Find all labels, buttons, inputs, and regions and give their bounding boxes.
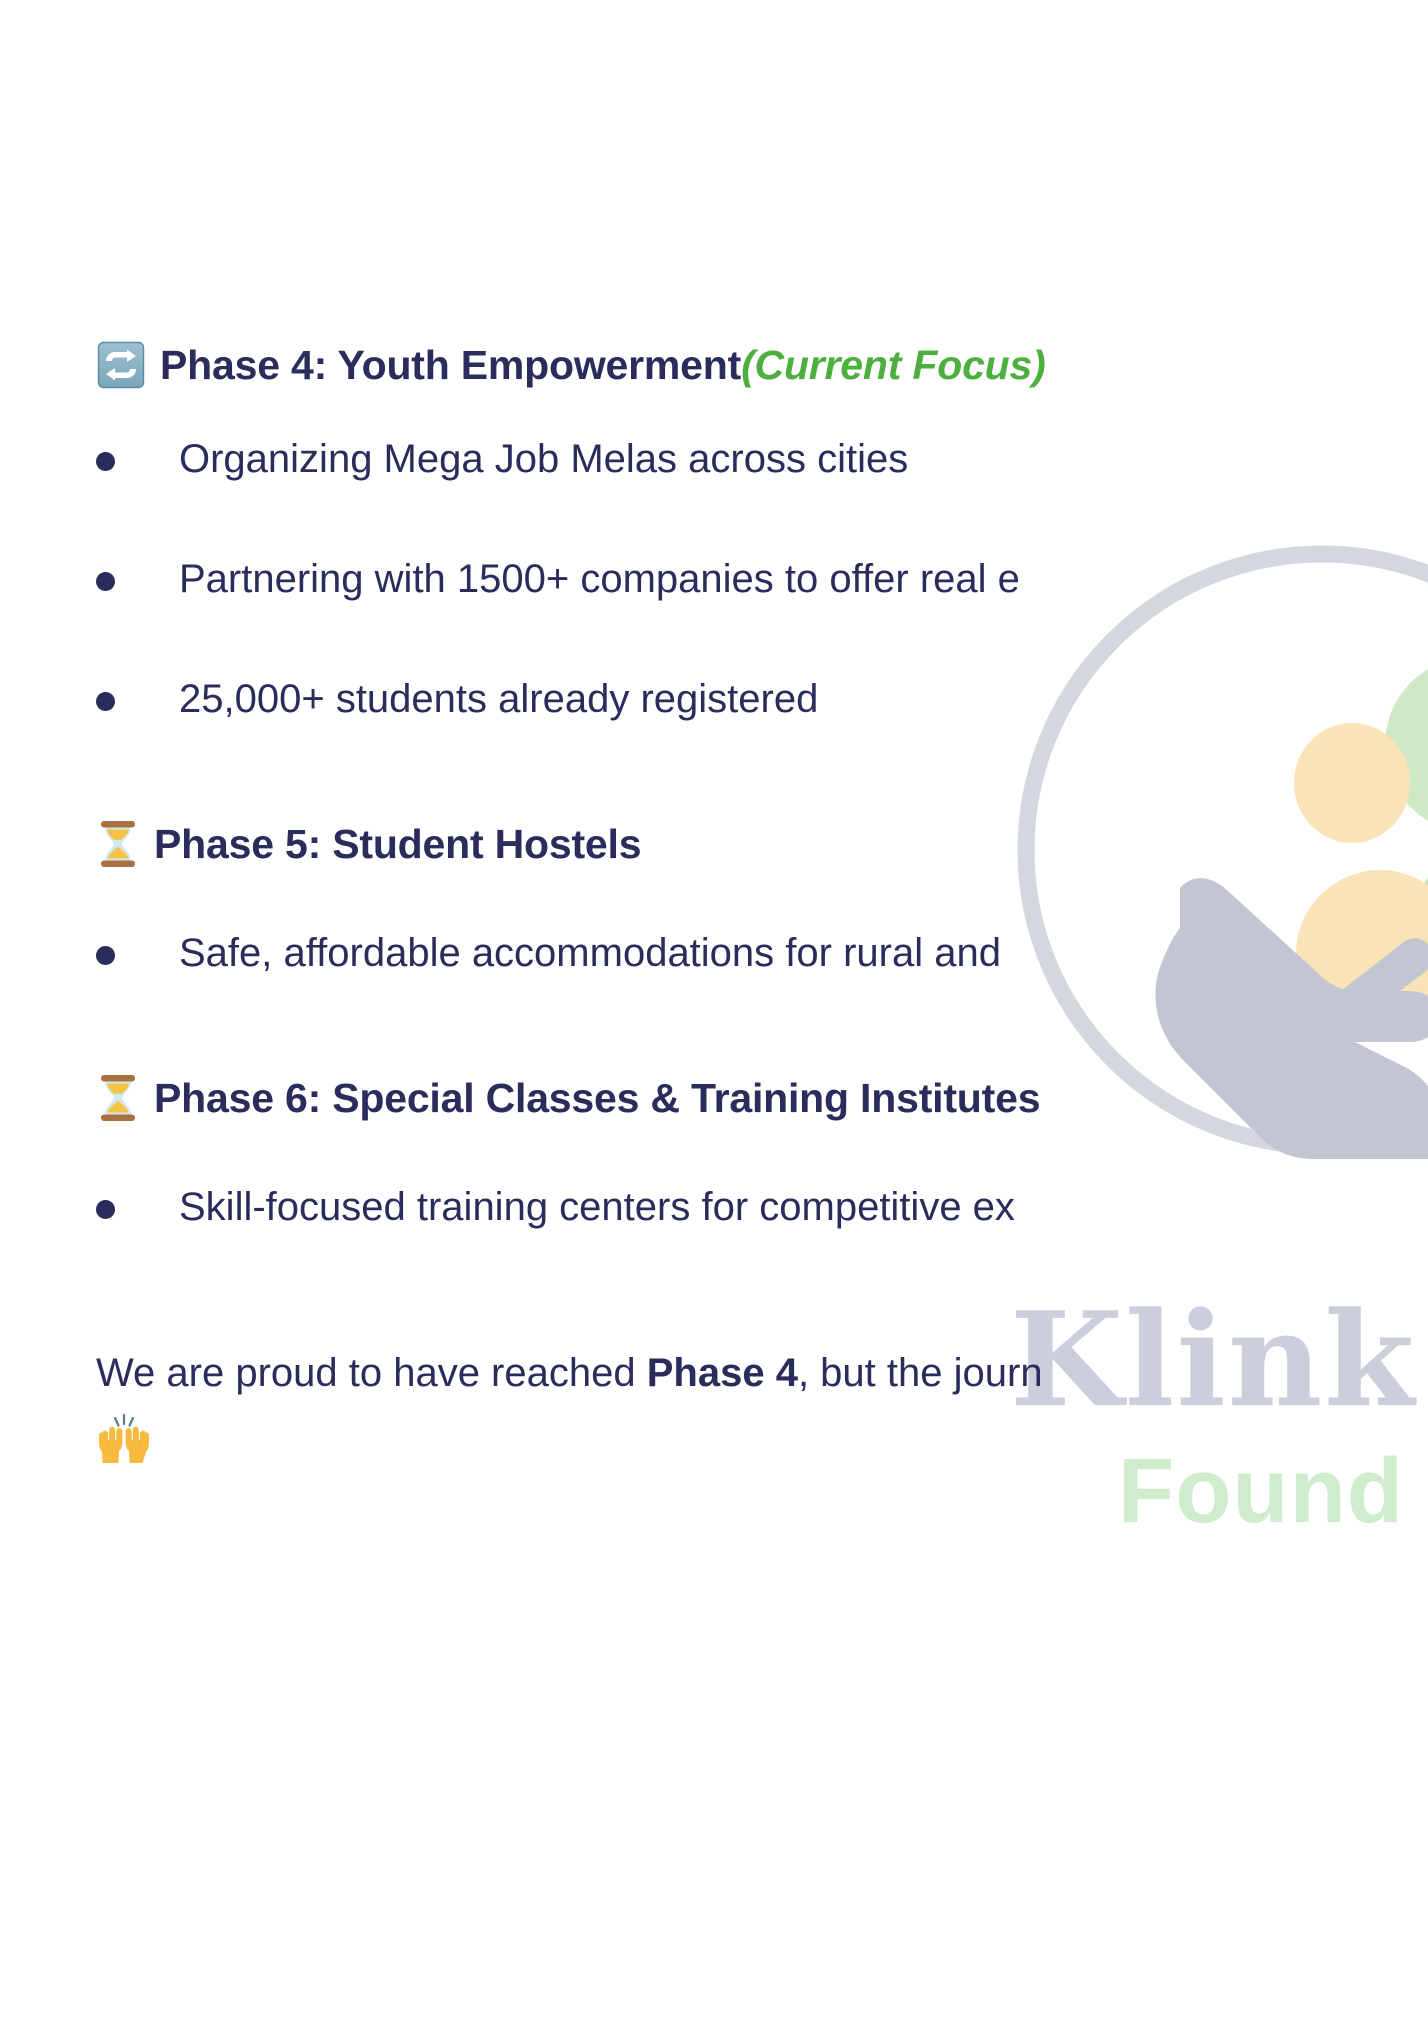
list-item: Skill-focused training centers for compe… <box>96 1183 1428 1231</box>
list-item-label: Skill-focused training centers for compe… <box>179 1183 1015 1231</box>
closing-lead-text: We are proud to have reached <box>96 1351 647 1395</box>
bullet-dot-icon <box>96 692 115 711</box>
phase-6-heading: Phase 6: Special Classes & Training Inst… <box>96 1073 1428 1123</box>
phase-6-bullet-list: Skill-focused training centers for compe… <box>96 1183 1428 1231</box>
bullet-dot-icon <box>96 572 115 591</box>
closing-bold-phase: Phase 4 <box>647 1351 798 1395</box>
list-item: 25,000+ students already registered <box>96 675 1428 723</box>
closing-statement: We are proud to have reached Phase 4, bu… <box>96 1349 1428 1397</box>
bullet-dot-icon <box>96 946 115 965</box>
hourglass-icon <box>96 1073 140 1123</box>
slide-content: Phase 4: Youth Empowerment (Current Focu… <box>0 0 1428 2018</box>
phase-4-heading-text: Phase 4: Youth Empowerment <box>160 341 741 389</box>
phase-4-heading: Phase 4: Youth Empowerment (Current Focu… <box>96 340 1428 390</box>
phase-5-bullet-list: Safe, affordable accommodations for rura… <box>96 929 1428 977</box>
list-item: Organizing Mega Job Melas across cities <box>96 435 1428 483</box>
phase-4-current-focus-label: (Current Focus) <box>741 341 1046 389</box>
list-item-label: 25,000+ students already registered <box>179 675 818 723</box>
list-item: Partnering with 1500+ companies to offer… <box>96 555 1428 603</box>
hourglass-icon <box>96 819 140 869</box>
phase-5-heading: Phase 5: Student Hostels <box>96 819 1428 869</box>
list-item-label: Partnering with 1500+ companies to offer… <box>179 555 1020 603</box>
list-item: Safe, affordable accommodations for rura… <box>96 929 1428 977</box>
phase-4-bullet-list: Organizing Mega Job Melas across cities … <box>96 435 1428 723</box>
arrows-counterclockwise-icon <box>96 340 146 390</box>
list-item-label: Organizing Mega Job Melas across cities <box>179 435 908 483</box>
phase-6-heading-text: Phase 6: Special Classes & Training Inst… <box>154 1074 1040 1122</box>
closing-tail-text: , but the journ <box>798 1351 1043 1395</box>
bullet-dot-icon <box>96 452 115 471</box>
phase-5-heading-text: Phase 5: Student Hostels <box>154 820 641 868</box>
list-item-label: Safe, affordable accommodations for rura… <box>179 929 1001 977</box>
raising-hands-icon <box>96 1411 1428 1468</box>
bullet-dot-icon <box>96 1200 115 1219</box>
